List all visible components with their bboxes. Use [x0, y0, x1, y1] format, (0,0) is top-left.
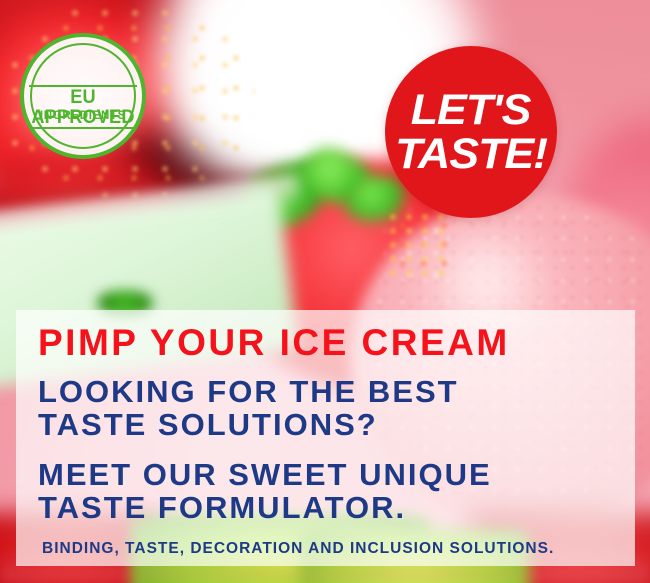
sprinkles-decoration: [385, 210, 455, 280]
page-title: PIMP YOUR ICE CREAM: [38, 324, 617, 361]
lets-taste-button[interactable]: LET'S TASTE!: [385, 46, 557, 218]
subheadline-line-2: TASTE SOLUTIONS?: [38, 408, 617, 441]
lets-taste-line-2: TASTE!: [395, 133, 547, 175]
text-spacer: [38, 442, 617, 458]
promo-poster: EU APPROVED INGREDIENTS LET'S TASTE! PIM…: [0, 0, 650, 583]
subheadline-group-2: MEET OUR SWEET UNIQUE TASTE FORMULATOR.: [38, 458, 617, 525]
subheadline-line-4: TASTE FORMULATOR.: [38, 491, 617, 524]
subheadline-line-1: LOOKING FOR THE BEST: [38, 375, 617, 408]
eu-approved-badge: EU APPROVED INGREDIENTS: [20, 33, 146, 159]
subheadline-line-3: MEET OUR SWEET UNIQUE: [38, 458, 617, 491]
message-panel-content: PIMP YOUR ICE CREAM LOOKING FOR THE BEST…: [16, 310, 635, 566]
footnote-text: BINDING, TASTE, DECORATION AND INCLUSION…: [42, 541, 617, 557]
lets-taste-line-1: LET'S: [411, 89, 531, 131]
subheadline-group-1: LOOKING FOR THE BEST TASTE SOLUTIONS?: [38, 375, 617, 442]
badge-sub-text: INGREDIENTS: [20, 111, 146, 123]
message-panel: PIMP YOUR ICE CREAM LOOKING FOR THE BEST…: [16, 310, 635, 566]
